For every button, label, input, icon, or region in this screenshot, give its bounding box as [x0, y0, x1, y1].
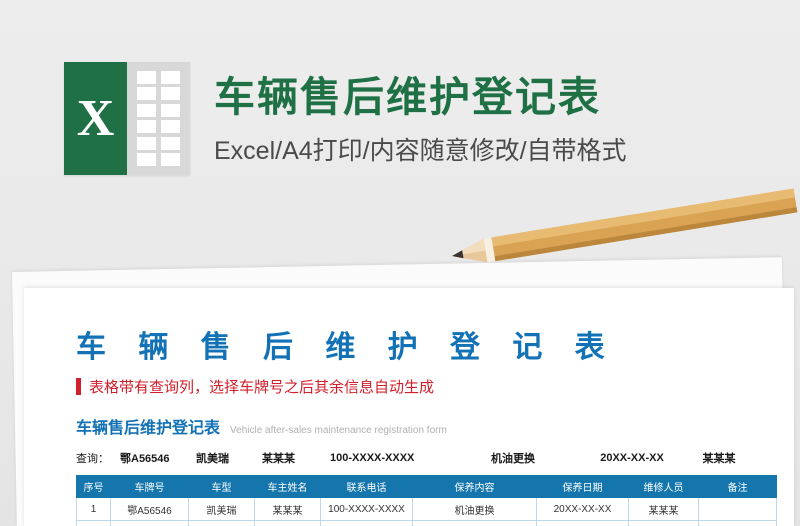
logo-grid-row — [137, 71, 180, 84]
logo-grid-cell — [137, 120, 156, 133]
query-label: 查询： — [76, 450, 120, 466]
table-cell: 20XX-XX-XX — [537, 498, 629, 521]
query-value-owner: 某某某 — [262, 450, 330, 466]
logo-grid-row — [137, 153, 180, 166]
table-header-cell: 保养日期 — [537, 476, 629, 498]
table-cell — [255, 521, 321, 526]
note-marker — [76, 378, 81, 395]
table-cell — [321, 521, 413, 526]
logo-grid-row — [137, 137, 180, 150]
table-cell — [629, 521, 699, 526]
banner-titles: 车辆售后维护登记表 Excel/A4打印/内容随意修改/自带格式 — [214, 62, 627, 167]
logo-grid-cell — [161, 153, 180, 166]
logo-grid-cell — [137, 71, 156, 84]
logo-grid-cell — [161, 87, 180, 100]
query-value-model: 凯美瑞 — [196, 450, 262, 466]
table-header-row: 序号 车牌号 车型 车主姓名 联系电话 保养内容 保养日期 维修人员 备注 — [77, 476, 777, 498]
logo-grid-row — [137, 87, 180, 100]
table-header-cell: 维修人员 — [629, 476, 699, 498]
note-text: 表格带有查询列，选择车牌号之后其余信息自动生成 — [89, 376, 434, 397]
logo-grid-row — [137, 104, 180, 117]
logo-grid-cell — [137, 137, 156, 150]
table-cell — [111, 521, 189, 526]
table-cell — [413, 521, 537, 526]
document-note: 表格带有查询列，选择车牌号之后其余信息自动生成 — [76, 376, 434, 397]
table-cell: 某某某 — [255, 498, 321, 521]
document-heading: 车 辆 售 后 维 护 登 记 表 — [76, 322, 617, 366]
logo-grid-cell — [161, 104, 180, 117]
sheet-title: 车辆售后维护登记表 — [76, 414, 220, 438]
banner-subtitle: Excel/A4打印/内容随意修改/自带格式 — [214, 131, 627, 167]
table-row[interactable]: 1 鄂A56546 凯美瑞 某某某 100-XXXX-XXXX 机油更换 20X… — [77, 498, 777, 521]
logo-grid-cell — [161, 120, 180, 133]
query-value-plate[interactable]: 鄂A56546 — [120, 450, 196, 466]
table-cell — [699, 521, 777, 526]
table-cell — [189, 521, 255, 526]
table-cell: 鄂A56546 — [111, 498, 189, 521]
banner: X 车辆售后维护登记表 Excel/A4打印/内容随意修改/自带格式 — [64, 62, 627, 175]
query-value-service: 机油更换 — [446, 450, 580, 466]
table-header-cell: 联系电话 — [321, 476, 413, 498]
document-content: 车 辆 售 后 维 护 登 记 表 表格带有查询列，选择车牌号之后其余信息自动生… — [24, 288, 794, 526]
table-cell: 100-XXXX-XXXX — [321, 498, 413, 521]
query-value-date: 20XX-XX-XX — [580, 452, 684, 464]
table-cell — [699, 498, 777, 521]
table-header-cell: 车牌号 — [111, 476, 189, 498]
sheet-subtitle: Vehicle after-sales maintenance registra… — [230, 425, 447, 436]
banner-title: 车辆售后维护登记表 — [214, 72, 627, 123]
table-cell: 机油更换 — [413, 498, 537, 521]
logo-grid-cell — [137, 153, 156, 166]
registration-table: 序号 车牌号 车型 车主姓名 联系电话 保养内容 保养日期 维修人员 备注 1 — [76, 475, 777, 526]
table-row[interactable]: 2 — [77, 521, 777, 526]
table-header-cell: 保养内容 — [413, 476, 537, 498]
table-cell: 某某某 — [629, 498, 699, 521]
table-header-cell: 车型 — [189, 476, 255, 498]
sheet-header: 车辆售后维护登记表 Vehicle after-sales maintenanc… — [76, 414, 776, 438]
table-header-cell: 车主姓名 — [255, 476, 321, 498]
excel-logo-icon: X — [64, 62, 190, 175]
query-value-phone: 100-XXXX-XXXX — [330, 452, 446, 464]
logo-grid-cell — [161, 137, 180, 150]
table-cell: 凯美瑞 — [189, 498, 255, 521]
excel-logo-letter: X — [77, 93, 115, 145]
logo-grid-row — [137, 120, 180, 133]
table-cell: 2 — [77, 521, 111, 526]
logo-grid-cell — [137, 104, 156, 117]
query-row: 查询： 鄂A56546 凯美瑞 某某某 100-XXXX-XXXX 机油更换 2… — [76, 448, 776, 468]
table-header-cell: 序号 — [77, 476, 111, 498]
query-value-staff: 某某某 — [684, 450, 754, 466]
logo-grid-cell — [137, 87, 156, 100]
excel-logo-grid — [127, 62, 190, 175]
table-header-cell: 备注 — [699, 476, 777, 498]
table-cell: 1 — [77, 498, 111, 521]
logo-grid-cell — [161, 71, 180, 84]
sheet-area: 车辆售后维护登记表 Vehicle after-sales maintenanc… — [76, 414, 776, 526]
table-cell — [537, 521, 629, 526]
screenshot-page: X 车辆售后维护登记表 Excel/A4打印/内容随意修改/自带格式 — [0, 0, 800, 526]
excel-logo-letter-block: X — [64, 62, 127, 175]
